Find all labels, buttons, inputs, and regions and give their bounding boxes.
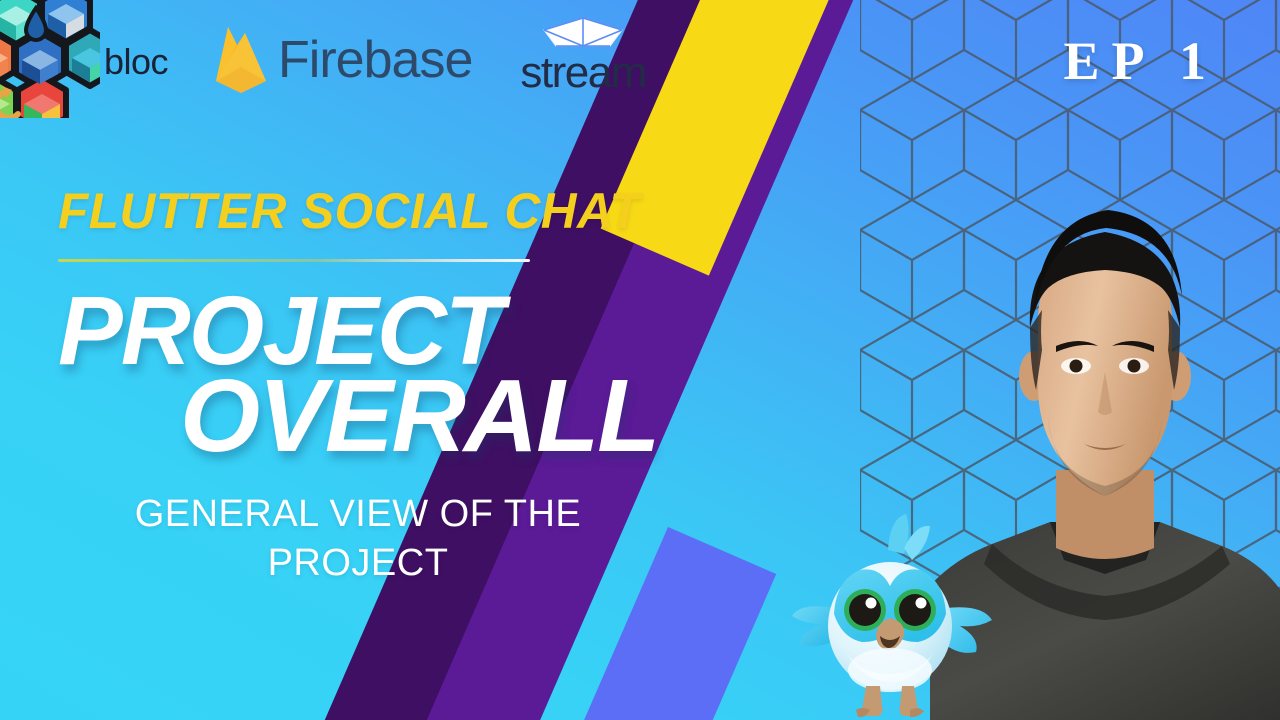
logo-firebase: Firebase: [210, 23, 472, 95]
stream-paper-boat-icon: [542, 16, 624, 50]
video-thumbnail: bloc Firebase: [0, 0, 1280, 720]
title-divider: [58, 259, 530, 262]
episode-badge: EP 1: [1063, 30, 1218, 92]
logo-stream: stream: [520, 16, 645, 98]
flutter-dash-mascot: [770, 510, 1010, 720]
firebase-flame-icon: [210, 23, 272, 95]
bloc-hexagon-cubes-icon: [0, 0, 100, 118]
firebase-wordmark: Firebase: [278, 30, 472, 90]
subtitle-text: GENERAL VIEW OF THE PROJECT: [58, 490, 658, 587]
kicker-text: FLUTTER SOCIAL CHAT: [58, 186, 731, 236]
tech-logo-strip: bloc Firebase: [0, 0, 646, 118]
bloc-wordmark: bloc: [104, 41, 168, 83]
logo-bloc: bloc: [0, 0, 168, 118]
title-block: FLUTTER SOCIAL CHAT PROJECT OVERALL GENE…: [58, 186, 738, 587]
stream-wordmark: stream: [520, 48, 645, 98]
headline: PROJECT OVERALL: [58, 286, 738, 464]
